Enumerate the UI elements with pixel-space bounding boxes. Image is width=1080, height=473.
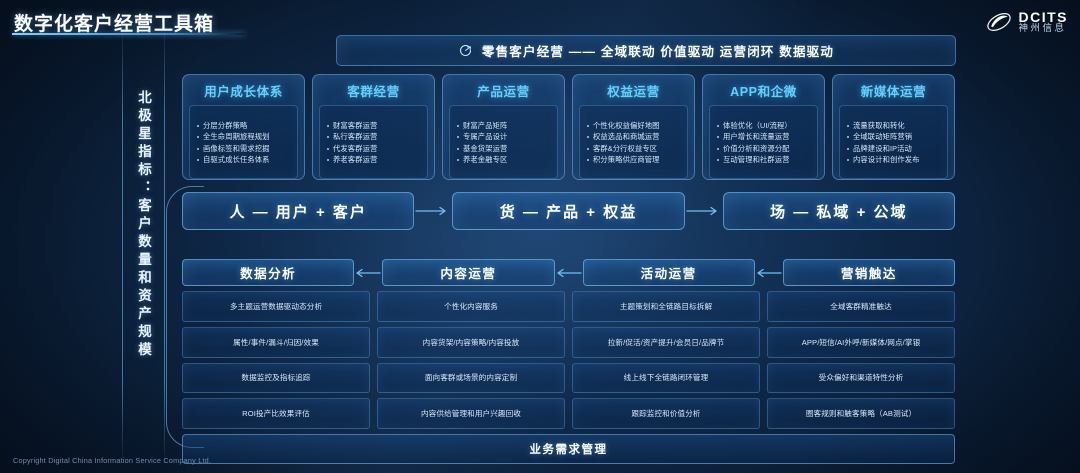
column-content-operations: 个性化内容服务 内容货架/内容策略/内容投放 面向客群或场景的内容定制 内容供给… — [377, 291, 565, 429]
bullet-dot-icon — [847, 136, 849, 138]
bullet-dot-icon — [717, 136, 719, 138]
bullet-dot-icon — [717, 125, 719, 127]
cycle-arrow-icon — [458, 43, 473, 58]
card-title: 产品运营 — [477, 81, 529, 100]
card-bullet: 用户增长和流量运营 — [715, 132, 814, 141]
card-bullet: 全域联动矩阵营销 — [845, 132, 944, 141]
card-bullet-text: 权益选品和商城运营 — [593, 132, 660, 141]
card-app-wechat[interactable]: APP和企微 体验优化（UI/流程） 用户增长和流量运营 价值分析和资源分配 互… — [702, 74, 825, 180]
section-header-marketing-reach[interactable]: 营销触达 — [783, 259, 955, 286]
detail-cell[interactable]: 受众偏好和渠道特性分析 — [767, 363, 955, 394]
title-underline — [12, 33, 245, 35]
card-bullet: 价值分析和资源分配 — [715, 144, 814, 153]
bullet-dot-icon — [587, 136, 589, 138]
detail-cell[interactable]: 跟踪监控和价值分析 — [572, 398, 760, 429]
bullet-dot-icon — [197, 136, 199, 138]
card-title: 用户成长体系 — [204, 81, 283, 100]
card-bullet-text: 体验优化（UI/流程） — [723, 121, 792, 130]
chain-node-goods[interactable]: 货 — 产品 + 权益 — [452, 192, 684, 230]
card-bullet: 代发客群运营 — [325, 144, 424, 153]
bullet-dot-icon — [457, 125, 459, 127]
card-bullet-text: 用户增长和流量运营 — [723, 132, 790, 141]
page-title: 数字化客户经营工具箱 — [14, 9, 214, 36]
card-bullet-text: 财富客群运营 — [333, 121, 377, 130]
card-bullet: 体验优化（UI/流程） — [715, 121, 814, 130]
card-bullet: 财富产品矩阵 — [455, 121, 554, 130]
card-bullet-text: 专属产品设计 — [463, 132, 507, 141]
card-bullet-text: 全生命周期旅程规划 — [203, 132, 270, 141]
section-header-data-analysis[interactable]: 数据分析 — [182, 259, 354, 286]
value-chain-row: 人 — 用户 + 客户 货 — 产品 + 权益 场 — 私域 + 公域 — [182, 192, 955, 230]
detail-cell[interactable]: 多主题运营数据驱动态分析 — [182, 291, 370, 322]
card-bullet: 客群&分行权益专区 — [585, 144, 684, 153]
bullet-dot-icon — [327, 136, 329, 138]
card-bullet: 个性化权益偏好地图 — [585, 121, 684, 130]
card-bullet: 流量获取和转化 — [845, 121, 944, 130]
detail-cell[interactable]: 内容货架/内容策略/内容投放 — [377, 327, 565, 358]
axis-line-right — [164, 32, 165, 458]
bullet-dot-icon — [847, 159, 849, 161]
card-title: 新媒体运营 — [861, 81, 927, 100]
bullet-dot-icon — [197, 159, 199, 161]
bullet-dot-icon — [587, 148, 589, 150]
chain-arrow-right-icon — [414, 205, 452, 217]
card-bullet: 全生命周期旅程规划 — [195, 132, 294, 141]
card-body: 流量获取和转化 全域联动矩阵营销 品牌建设和IP活动 内容设计和创作发布 — [839, 105, 948, 179]
card-user-growth[interactable]: 用户成长体系 分层分群策略 全生命周期旅程规划 画像标签和需求挖掘 自驱式成长任… — [182, 74, 305, 180]
card-body: 分层分群策略 全生命周期旅程规划 画像标签和需求挖掘 自驱式成长任务体系 — [189, 105, 298, 179]
card-bullet-text: 互动管理和社群运营 — [723, 155, 790, 164]
card-bullet: 自驱式成长任务体系 — [195, 155, 294, 164]
copyright-text: Copyright Digital China Information Serv… — [13, 456, 211, 465]
card-bullet: 内容设计和创作发布 — [845, 155, 944, 164]
card-bullet: 互动管理和社群运营 — [715, 155, 814, 164]
card-bullet-text: 内容设计和创作发布 — [853, 155, 920, 164]
bullet-dot-icon — [587, 159, 589, 161]
card-bullet: 养老金融专区 — [455, 155, 554, 164]
card-bullet: 财富客群运营 — [325, 121, 424, 130]
card-body: 个性化权益偏好地图 权益选品和商城运营 客群&分行权益专区 积分策略供应商管理 — [579, 105, 688, 179]
card-bullet-text: 分层分群策略 — [203, 121, 247, 130]
bullet-dot-icon — [327, 159, 329, 161]
business-requirement-bar[interactable]: 业务需求管理 — [182, 434, 955, 464]
card-bullet-text: 养老客群运营 — [333, 155, 377, 164]
card-rights-operations[interactable]: 权益运营 个性化权益偏好地图 权益选品和商城运营 客群&分行权益专区 积分策略供… — [572, 74, 695, 180]
bullet-dot-icon — [847, 125, 849, 127]
banner: 零售客户经营 —— 全域联动 价值驱动 运营闭环 数据驱动 — [336, 35, 956, 66]
axis-line-left — [122, 32, 123, 458]
card-title: APP和企微 — [730, 81, 797, 100]
detail-cell[interactable]: 数据监控及指标追踪 — [182, 363, 370, 394]
bullet-dot-icon — [327, 148, 329, 150]
card-bullet-text: 养老金融专区 — [463, 155, 507, 164]
card-body: 财富客群运营 私行客群运营 代发客群运营 养老客群运营 — [319, 105, 428, 179]
detail-cell[interactable]: ROI投产比效果评估 — [182, 398, 370, 429]
card-title: 权益运营 — [607, 81, 659, 100]
section-details-grid: 多主题运营数据驱动态分析 属性/事件/漏斗/归因/效果 数据监控及指标追踪 RO… — [182, 291, 955, 429]
chain-node-scene[interactable]: 场 — 私域 + 公域 — [723, 192, 955, 230]
bullet-dot-icon — [457, 136, 459, 138]
column-activity-operations: 主题策划和全链路目标拆解 拉新/促活/资产提升/会员日/品牌节 线上线下全链路闭… — [572, 291, 760, 429]
card-bullet: 画像标签和需求挖掘 — [195, 144, 294, 153]
north-star-metric-label: 北极星指标：客户数量和资产规模 — [128, 86, 158, 456]
detail-cell[interactable]: 主题策划和全链路目标拆解 — [572, 291, 760, 322]
card-product-operations[interactable]: 产品运营 财富产品矩阵 专属产品设计 基金货架运营 养老金融专区 — [442, 74, 565, 180]
section-header-content-operations[interactable]: 内容运营 — [382, 259, 554, 286]
bullet-dot-icon — [717, 159, 719, 161]
bullet-dot-icon — [327, 125, 329, 127]
card-bullet: 基金货架运营 — [455, 144, 554, 153]
detail-cell[interactable]: 全域客群精准触达 — [767, 291, 955, 322]
bullet-dot-icon — [457, 159, 459, 161]
capability-cards-row: 用户成长体系 分层分群策略 全生命周期旅程规划 画像标签和需求挖掘 自驱式成长任… — [182, 74, 955, 180]
card-bullet-text: 财富产品矩阵 — [463, 121, 507, 130]
chain-node-people[interactable]: 人 — 用户 + 客户 — [182, 192, 414, 230]
card-bullet-text: 私行客群运营 — [333, 132, 377, 141]
card-body: 体验优化（UI/流程） 用户增长和流量运营 价值分析和资源分配 互动管理和社群运… — [709, 105, 818, 179]
banner-text: 零售客户经营 —— 全域联动 价值驱动 运营闭环 数据驱动 — [482, 41, 834, 60]
card-bullet: 私行客群运营 — [325, 132, 424, 141]
section-arrow-left-icon — [354, 267, 382, 279]
swoosh-logo-icon — [985, 8, 1013, 36]
card-bullet: 品牌建设和IP活动 — [845, 144, 944, 153]
detail-cell[interactable]: 个性化内容服务 — [377, 291, 565, 322]
bullet-dot-icon — [717, 148, 719, 150]
card-bullet: 积分策略供应商管理 — [585, 155, 684, 164]
card-bullet: 分层分群策略 — [195, 121, 294, 130]
card-bullet-text: 全域联动矩阵营销 — [853, 132, 912, 141]
card-bullet-text: 价值分析和资源分配 — [723, 144, 790, 153]
brand-logo: DCITS 神州信息 — [985, 8, 1069, 36]
detail-cell[interactable]: 内容供给管理和用户兴趣回收 — [377, 398, 565, 429]
card-bullet-text: 代发客群运营 — [333, 144, 377, 153]
north-star-metric-text: 北极星指标：客户数量和资产规模 — [133, 90, 153, 360]
card-customer-group[interactable]: 客群经营 财富客群运营 私行客群运营 代发客群运营 养老客群运营 — [312, 74, 435, 180]
bullet-dot-icon — [847, 148, 849, 150]
card-bullet-text: 客群&分行权益专区 — [593, 144, 657, 153]
bullet-dot-icon — [197, 148, 199, 150]
card-new-media[interactable]: 新媒体运营 流量获取和转化 全域联动矩阵营销 品牌建设和IP活动 内容设计和创作… — [832, 74, 955, 180]
section-arrow-left-icon — [755, 267, 783, 279]
section-headers-row: 营销触达 活动运营 内容运营 数据分析 — [182, 259, 955, 286]
detail-cell[interactable]: 属性/事件/漏斗/归因/效果 — [182, 327, 370, 358]
section-header-activity-operations[interactable]: 活动运营 — [583, 259, 755, 286]
card-bullet-text: 自驱式成长任务体系 — [203, 155, 270, 164]
column-data-analysis: 多主题运营数据驱动态分析 属性/事件/漏斗/归因/效果 数据监控及指标追踪 RO… — [182, 291, 370, 429]
card-bullet: 权益选品和商城运营 — [585, 132, 684, 141]
card-bullet-text: 个性化权益偏好地图 — [593, 121, 660, 130]
card-bullet: 养老客群运营 — [325, 155, 424, 164]
card-title: 客群经营 — [347, 81, 399, 100]
bullet-dot-icon — [587, 125, 589, 127]
section-arrow-left-icon — [555, 267, 583, 279]
card-bullet-text: 基金货架运营 — [463, 144, 507, 153]
bullet-dot-icon — [197, 125, 199, 127]
card-bullet-text: 品牌建设和IP活动 — [853, 144, 912, 153]
detail-cell[interactable]: 圈客规则和触客策略（AB测试） — [767, 398, 955, 429]
column-marketing-reach: 全域客群精准触达 APP/短信/AI外呼/新媒体/网点/掌银 受众偏好和渠道特性… — [767, 291, 955, 429]
chain-arrow-right-icon — [685, 205, 723, 217]
card-bullet: 专属产品设计 — [455, 132, 554, 141]
bullet-dot-icon — [457, 148, 459, 150]
detail-cell[interactable]: 拉新/促活/资产提升/会员日/品牌节 — [572, 327, 760, 358]
card-bullet-text: 积分策略供应商管理 — [593, 155, 660, 164]
detail-cell[interactable]: 面向客群或场景的内容定制 — [377, 363, 565, 394]
card-bullet-text: 流量获取和转化 — [853, 121, 905, 130]
card-body: 财富产品矩阵 专属产品设计 基金货架运营 养老金融专区 — [449, 105, 558, 179]
logo-text-cn: 神州信息 — [1019, 24, 1069, 34]
detail-cell[interactable]: APP/短信/AI外呼/新媒体/网点/掌银 — [767, 327, 955, 358]
detail-cell[interactable]: 线上线下全链路闭环管理 — [572, 363, 760, 394]
card-bullet-text: 画像标签和需求挖掘 — [203, 144, 270, 153]
